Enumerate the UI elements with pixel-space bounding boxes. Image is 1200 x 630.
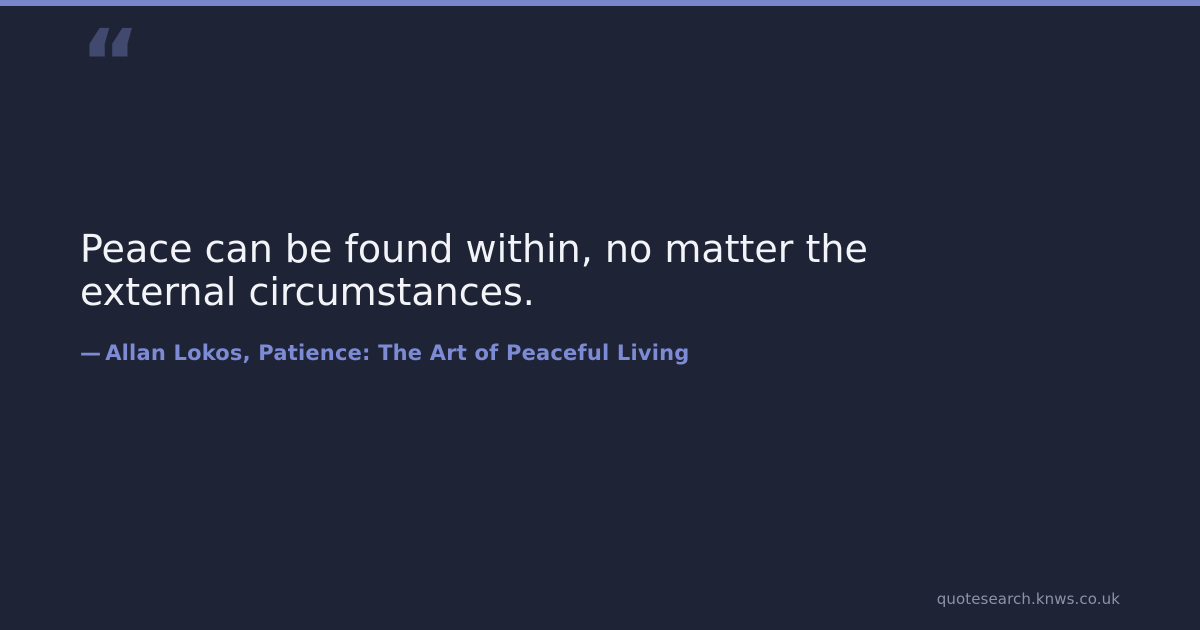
quote-text: Peace can be found within, no matter the… — [80, 228, 1030, 313]
footer-site-url: quotesearch.knws.co.uk — [937, 590, 1120, 608]
attribution-text: Allan Lokos, Patience: The Art of Peacef… — [105, 341, 689, 365]
quote-content: Peace can be found within, no matter the… — [80, 228, 1060, 365]
attribution-dash: — — [80, 341, 101, 365]
quote-attribution: —Allan Lokos, Patience: The Art of Peace… — [80, 341, 1060, 365]
quote-card: “ Peace can be found within, no matter t… — [0, 0, 1200, 630]
quotation-mark-icon: “ — [80, 18, 138, 110]
top-accent-bar — [0, 0, 1200, 6]
